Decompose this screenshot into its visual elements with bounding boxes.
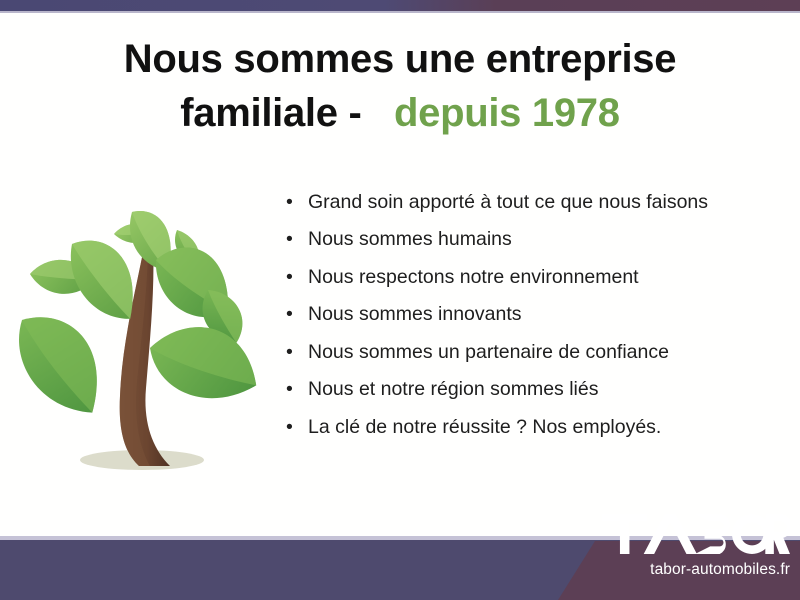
website-url[interactable]: tabor-automobiles.fr bbox=[600, 561, 794, 579]
tree-leaf bbox=[14, 312, 110, 413]
slide-canvas: Nous sommes une entreprise familiale - d… bbox=[0, 0, 800, 600]
headline-line-2-black: familiale - bbox=[180, 91, 361, 135]
bullet-marker-icon: • bbox=[286, 265, 293, 290]
benefits-list: • Grand soin apporté à tout ce que nous … bbox=[283, 190, 783, 452]
headline-line-1: Nous sommes une entreprise bbox=[40, 32, 760, 86]
list-item-label: La clé de notre réussite ? Nos employés. bbox=[308, 416, 661, 438]
list-item-label: Nous et notre région sommes liés bbox=[308, 378, 598, 400]
headline-line-2-accent: depuis 1978 bbox=[394, 91, 620, 135]
list-item-label: Nous sommes humains bbox=[308, 228, 512, 250]
list-item: • La clé de notre réussite ? Nos employé… bbox=[283, 415, 783, 440]
top-accent-hairline bbox=[0, 11, 800, 13]
bullet-marker-icon: • bbox=[286, 227, 293, 252]
top-accent-bar bbox=[0, 0, 800, 11]
tree-illustration bbox=[14, 182, 274, 482]
list-item-label: Grand soin apporté à tout ce que nous fa… bbox=[308, 191, 708, 213]
page-title: Nous sommes une entreprise familiale - d… bbox=[40, 32, 760, 140]
bullet-marker-icon: • bbox=[286, 415, 293, 440]
bullet-marker-icon: • bbox=[286, 190, 293, 215]
list-item: • Grand soin apporté à tout ce que nous … bbox=[283, 190, 783, 215]
list-item-label: Nous respectons notre environnement bbox=[308, 266, 639, 288]
list-item: • Nous et notre région sommes liés bbox=[283, 377, 783, 402]
list-item: • Nous respectons notre environnement bbox=[283, 265, 783, 290]
bullet-marker-icon: • bbox=[286, 302, 293, 327]
tabor-logo[interactable] bbox=[600, 512, 790, 556]
list-item: • Nous sommes innovants bbox=[283, 302, 783, 327]
list-item: • Nous sommes humains bbox=[283, 227, 783, 252]
list-item-label: Nous sommes innovants bbox=[308, 303, 522, 325]
bullet-marker-icon: • bbox=[286, 377, 293, 402]
list-item: • Nous sommes un partenaire de confiance bbox=[283, 340, 783, 365]
bullet-marker-icon: • bbox=[286, 340, 293, 365]
headline-line-2: familiale - depuis 1978 bbox=[40, 86, 760, 140]
list-item-label: Nous sommes un partenaire de confiance bbox=[308, 341, 669, 363]
